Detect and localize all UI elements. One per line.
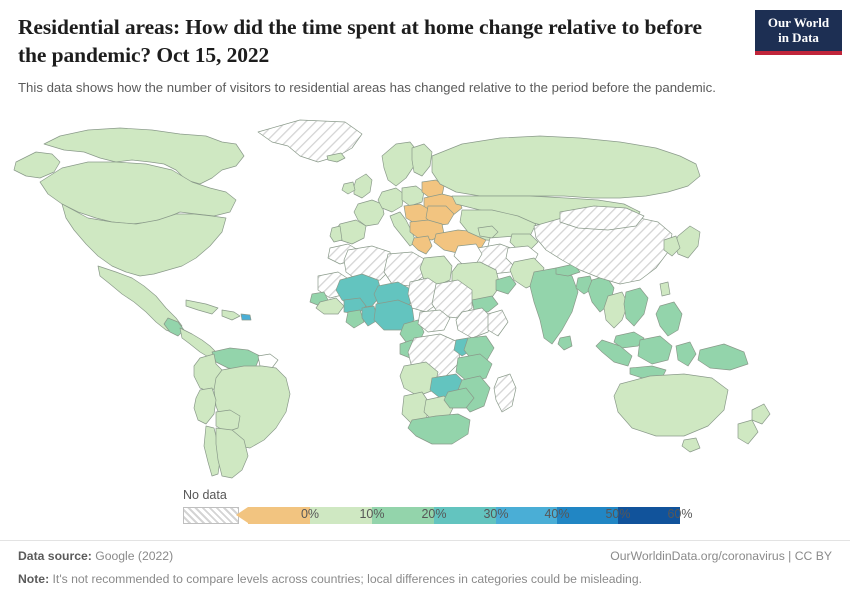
data-source-label: Data source: — [18, 549, 92, 563]
footer-note-label: Note: — [18, 572, 49, 586]
legend-tick-3: 30% — [483, 507, 508, 521]
footer-note-value: It's not recommended to compare levels a… — [53, 572, 642, 586]
chart-footer: Data source: Google (2022) OurWorldinDat… — [0, 540, 850, 586]
attribution-link[interactable]: OurWorldinData.org/coronavirus | CC BY — [610, 549, 832, 563]
page-title: Residential areas: How did the time spen… — [18, 14, 718, 69]
map-legend: No data 0% 10% 20% 30% 40% 50% 60% — [0, 488, 850, 538]
chart-header: Residential areas: How did the time spen… — [0, 0, 850, 97]
world-map[interactable] — [0, 100, 850, 485]
owid-logo-text: Our World in Data — [755, 16, 842, 51]
footer-note: Note: It's not recommended to compare le… — [18, 572, 832, 586]
legend-tick-4: 40% — [544, 507, 569, 521]
data-source-value: Google (2022) — [95, 549, 173, 563]
country-taiwan — [660, 282, 670, 296]
owid-logo[interactable]: Our World in Data — [755, 10, 842, 55]
owid-logo-underline — [755, 51, 842, 55]
legend-tick-1: 10% — [359, 507, 384, 521]
page-subtitle: This data shows how the number of visito… — [18, 79, 808, 97]
legend-tick-6: 60% — [667, 507, 692, 521]
legend-arrow-below-zero — [236, 507, 248, 523]
data-source: Data source: Google (2022) — [18, 549, 173, 563]
legend-color-bar[interactable]: 0% 10% 20% 30% 40% 50% 60% — [248, 507, 680, 524]
legend-no-data-swatch[interactable] — [183, 507, 239, 524]
legend-no-data-label: No data — [183, 488, 227, 502]
legend-tick-5: 50% — [605, 507, 630, 521]
country-puertorico — [241, 314, 251, 320]
legend-tick-0: 0% — [301, 507, 319, 521]
legend-tick-2: 20% — [421, 507, 446, 521]
